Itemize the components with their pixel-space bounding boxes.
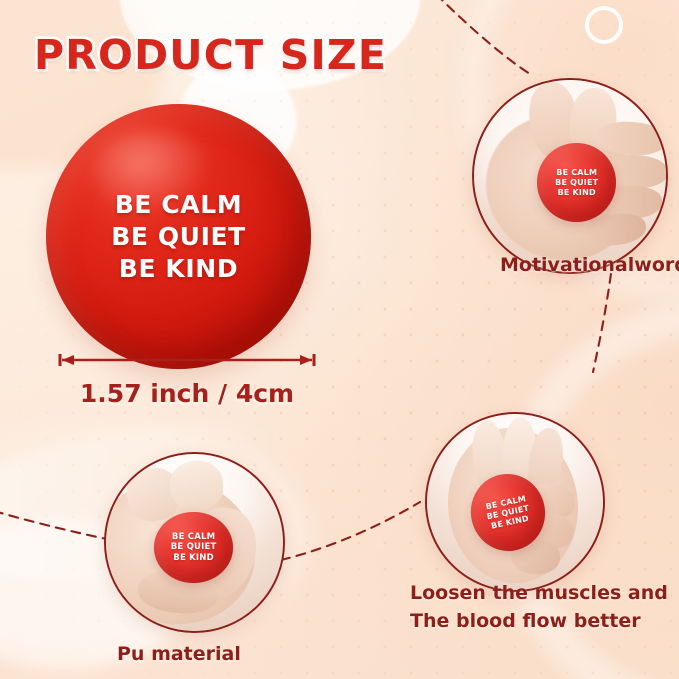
- caption-pu-material: Pu material: [117, 641, 241, 669]
- decorative-ring-icon: [585, 6, 623, 44]
- photo-inner-pu-material: BE CALM BE QUIET BE KIND: [106, 454, 283, 631]
- mini-ball-text-3: BE CALM BE QUIET BE KIND: [484, 493, 532, 531]
- feature-photo-pu-material[interactable]: BE CALM BE QUIET BE KIND: [104, 452, 285, 633]
- mini-ball-text-1: BE CALM BE QUIET BE KIND: [555, 168, 598, 198]
- mini-ball-2: BE CALM BE QUIET BE KIND: [154, 512, 234, 583]
- connector-top-right-upper: [436, 0, 530, 74]
- dimension-measure: 1.57 inch / 4cm: [58, 352, 316, 408]
- caption-motivational-words: Motivationalwords: [500, 252, 679, 280]
- photo-inner-blood-flow: BE CALM BE QUIET BE KIND: [427, 414, 603, 590]
- infographic-canvas: PRODUCT SIZE BE CALM BE QUIET BE KIND 1.…: [0, 0, 679, 679]
- hero-product-ball: BE CALM BE QUIET BE KIND: [46, 104, 311, 369]
- caption-blood-flow: Loosen the muscles and The blood flow be…: [410, 580, 668, 635]
- photo-inner-motivational-words: BE CALM BE QUIET BE KIND: [474, 80, 666, 272]
- mini-ball-1: BE CALM BE QUIET BE KIND: [537, 143, 616, 222]
- dimension-label: 1.57 inch / 4cm: [58, 379, 316, 408]
- feature-photo-motivational-words[interactable]: BE CALM BE QUIET BE KIND: [472, 78, 668, 274]
- connector-bottom-right: [281, 502, 420, 560]
- dimension-arrow-icon: [58, 352, 316, 368]
- page-title: PRODUCT SIZE: [34, 31, 387, 79]
- mini-ball-text-2: BE CALM BE QUIET BE KIND: [171, 532, 217, 564]
- hero-ball-text: BE CALM BE QUIET BE KIND: [111, 189, 246, 285]
- feature-photo-blood-flow[interactable]: BE CALM BE QUIET BE KIND: [425, 412, 605, 592]
